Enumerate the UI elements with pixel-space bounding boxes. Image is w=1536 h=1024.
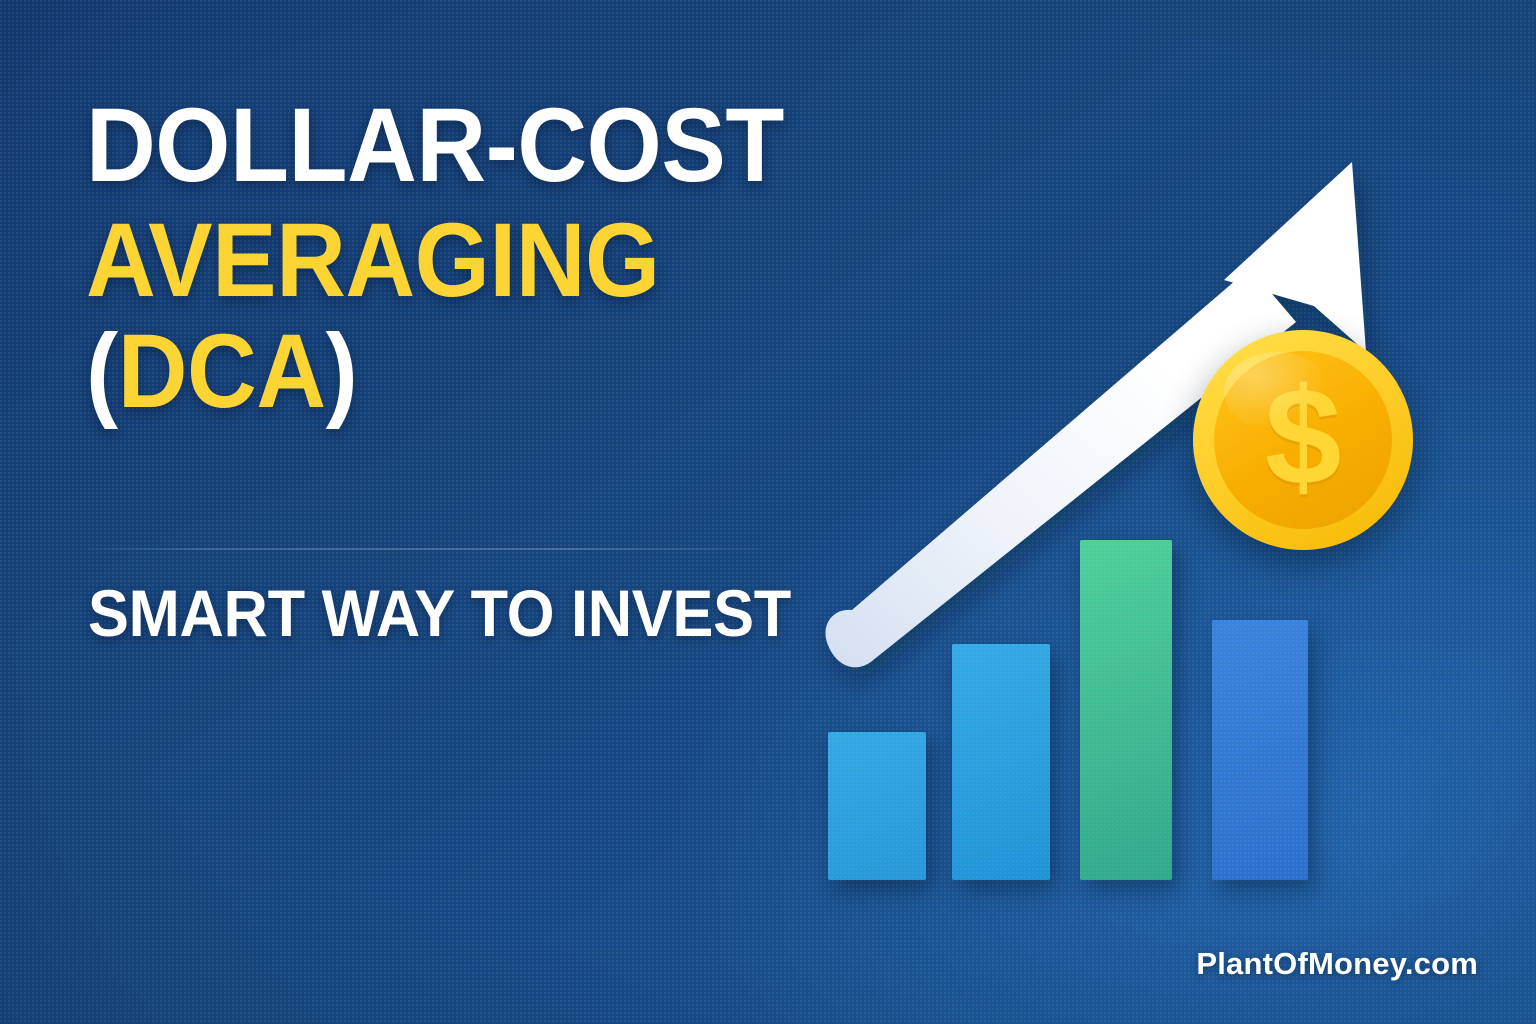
subheadline: SMART WAY TO INVEST — [88, 580, 795, 648]
section-divider — [88, 548, 760, 550]
dollar-coin-icon: $ — [1193, 330, 1413, 550]
infographic-canvas: DOLLAR-COST AVERAGING (DCA) SMART WAY TO… — [0, 0, 1536, 1024]
growth-chart-graphic: $ — [780, 140, 1480, 880]
coin-highlight — [1224, 352, 1330, 431]
website-url: PlantOfMoney.com — [1196, 946, 1478, 982]
headline-paren-close: ) — [326, 313, 358, 430]
headline-paren-open: ( — [86, 313, 118, 430]
headline-abbreviation: DCA — [118, 313, 326, 430]
